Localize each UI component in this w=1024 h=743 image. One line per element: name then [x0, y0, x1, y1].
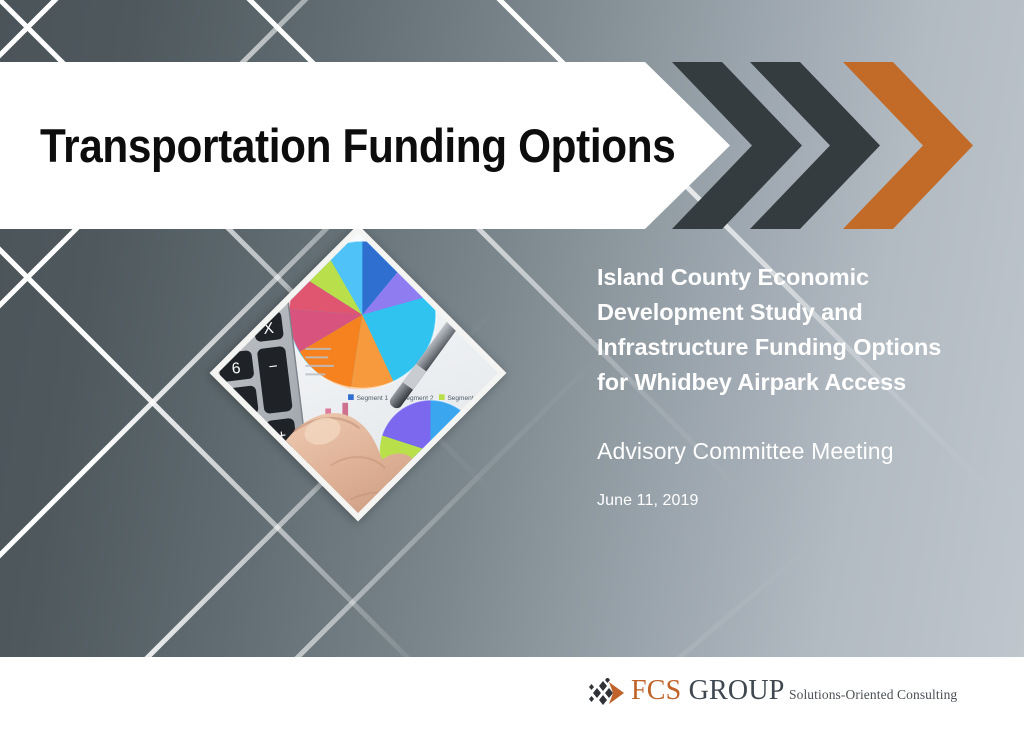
subtitle-line-1: Island County Economic: [597, 260, 997, 295]
meeting-name: Advisory Committee Meeting: [597, 436, 997, 466]
subtitle-line-2: Development Study and: [597, 295, 997, 330]
logo-wordmark: FCS GROUP Solutions-Oriented Consulting: [631, 676, 957, 705]
logo-brand-secondary: GROUP: [681, 675, 784, 706]
diamond-arrow-logo-icon: [588, 678, 626, 708]
logo-tagline: Solutions-Oriented Consulting: [789, 687, 957, 702]
page-title: Transportation Funding Options: [40, 62, 598, 229]
presentation-slide: Segment 1 Segment 2 Segment 3: [0, 0, 1024, 743]
subtitle-line-3: Infrastructure Funding Options: [597, 330, 997, 365]
svg-text:6: 6: [231, 360, 242, 378]
svg-text:Segment 3: Segment 3: [447, 395, 479, 402]
subtitle-block: Island County Economic Development Study…: [597, 260, 997, 510]
subtitle-heading: Island County Economic Development Study…: [597, 260, 997, 400]
subtitle-line-4: for Whidbey Airpark Access: [597, 365, 997, 400]
meeting-date: June 11, 2019: [597, 492, 997, 510]
fcs-group-logo: FCS GROUP Solutions-Oriented Consulting: [588, 676, 957, 708]
svg-text:−: −: [268, 358, 279, 376]
logo-words-row: FCS GROUP: [631, 675, 785, 706]
logo-brand-primary: FCS: [631, 675, 681, 706]
svg-text:Segment 1: Segment 1: [357, 395, 389, 402]
